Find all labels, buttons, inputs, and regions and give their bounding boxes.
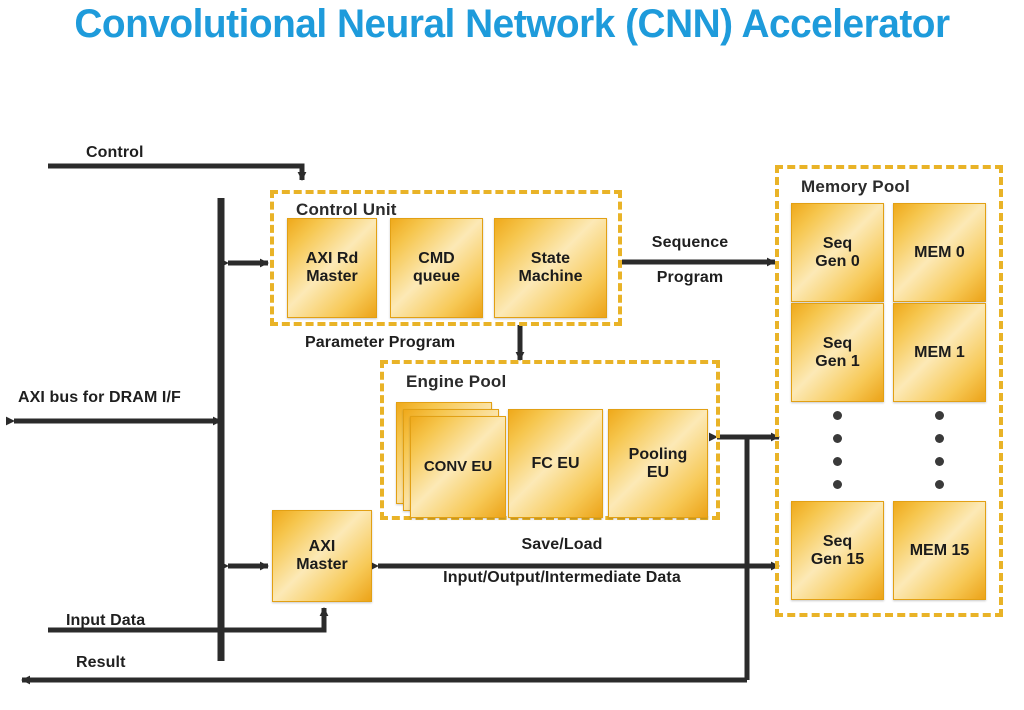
group-label-engine-pool: Engine Pool xyxy=(406,372,506,392)
block-pooling-eu-line2: EU xyxy=(647,464,669,481)
block-seq-gen-15-line2: Gen 15 xyxy=(811,551,864,568)
group-label-control-unit: Control Unit xyxy=(296,200,397,220)
block-seq-gen-0[interactable]: Seq Gen 0 xyxy=(791,203,884,302)
label-axi-bus: AXI bus for DRAM I/F xyxy=(18,389,181,407)
block-cmd-queue-line2: queue xyxy=(413,268,460,285)
block-conv-eu[interactable]: CONV EU xyxy=(410,416,506,518)
ellipsis-mem-column xyxy=(935,404,944,496)
block-pooling-eu[interactable]: Pooling EU xyxy=(608,409,708,518)
block-pooling-eu-line1: Pooling xyxy=(629,446,688,463)
label-parameter-program: Parameter Program xyxy=(305,334,455,352)
block-seq-gen-1-line2: Gen 1 xyxy=(815,353,859,370)
block-mem-1[interactable]: MEM 1 xyxy=(893,303,986,402)
diagram-canvas: Convolutional Neural Network (CNN) Accel… xyxy=(0,0,1024,710)
block-state-machine-line1: State xyxy=(531,250,570,267)
block-cmd-queue-line1: CMD xyxy=(418,250,454,267)
block-axi-master-line1: AXI xyxy=(309,538,336,555)
label-save-load: Save/Load xyxy=(522,536,603,554)
wire-control xyxy=(48,166,302,180)
block-cmd-queue[interactable]: CMD queue xyxy=(390,218,483,318)
block-mem-0[interactable]: MEM 0 xyxy=(893,203,986,302)
block-seq-gen-1-line1: Seq xyxy=(823,335,852,352)
block-seq-gen-15-line1: Seq xyxy=(823,533,852,550)
block-seq-gen-0-line2: Gen 0 xyxy=(815,253,859,270)
label-control: Control xyxy=(86,144,144,162)
block-axi-rd-master-line2: Master xyxy=(306,268,358,285)
block-axi-rd-master[interactable]: AXI Rd Master xyxy=(287,218,377,318)
block-axi-master-line2: Master xyxy=(296,556,348,573)
group-label-memory-pool: Memory Pool xyxy=(801,177,910,197)
block-fc-eu[interactable]: FC EU xyxy=(508,409,603,518)
block-mem-0-label: MEM 0 xyxy=(912,244,967,262)
label-result: Result xyxy=(76,654,126,672)
label-sequence-program-line2: Program xyxy=(657,269,724,287)
block-state-machine-line2: Machine xyxy=(518,268,582,285)
block-axi-master[interactable]: AXI Master xyxy=(272,510,372,602)
block-seq-gen-1[interactable]: Seq Gen 1 xyxy=(791,303,884,402)
block-state-machine[interactable]: State Machine xyxy=(494,218,607,318)
block-axi-rd-master-line1: AXI Rd xyxy=(306,250,358,267)
block-mem-1-label: MEM 1 xyxy=(912,344,967,362)
block-seq-gen-0-line1: Seq xyxy=(823,235,852,252)
block-seq-gen-15[interactable]: Seq Gen 15 xyxy=(791,501,884,600)
block-mem-15-label: MEM 15 xyxy=(908,542,972,560)
label-sequence-program-line1: Sequence xyxy=(652,234,728,252)
label-io-intermediate: Input/Output/Intermediate Data xyxy=(443,569,681,587)
block-mem-15[interactable]: MEM 15 xyxy=(893,501,986,600)
block-conv-eu-label: CONV EU xyxy=(422,459,494,476)
ellipsis-seq-column xyxy=(833,404,842,496)
block-fc-eu-label: FC EU xyxy=(530,455,582,473)
label-input-data: Input Data xyxy=(66,612,145,630)
